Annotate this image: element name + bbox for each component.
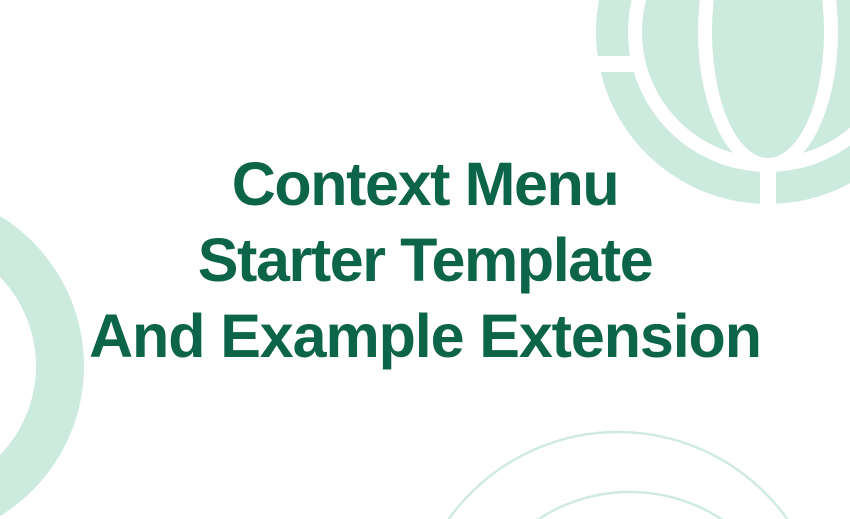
banner-canvas: Context Menu Starter Template And Exampl…	[0, 0, 850, 519]
headline-line-3: And Example Extension	[0, 298, 850, 374]
headline-line-1: Context Menu	[0, 146, 850, 222]
headline-line-2: Starter Template	[0, 222, 850, 298]
headline-block: Context Menu Starter Template And Exampl…	[0, 0, 850, 519]
